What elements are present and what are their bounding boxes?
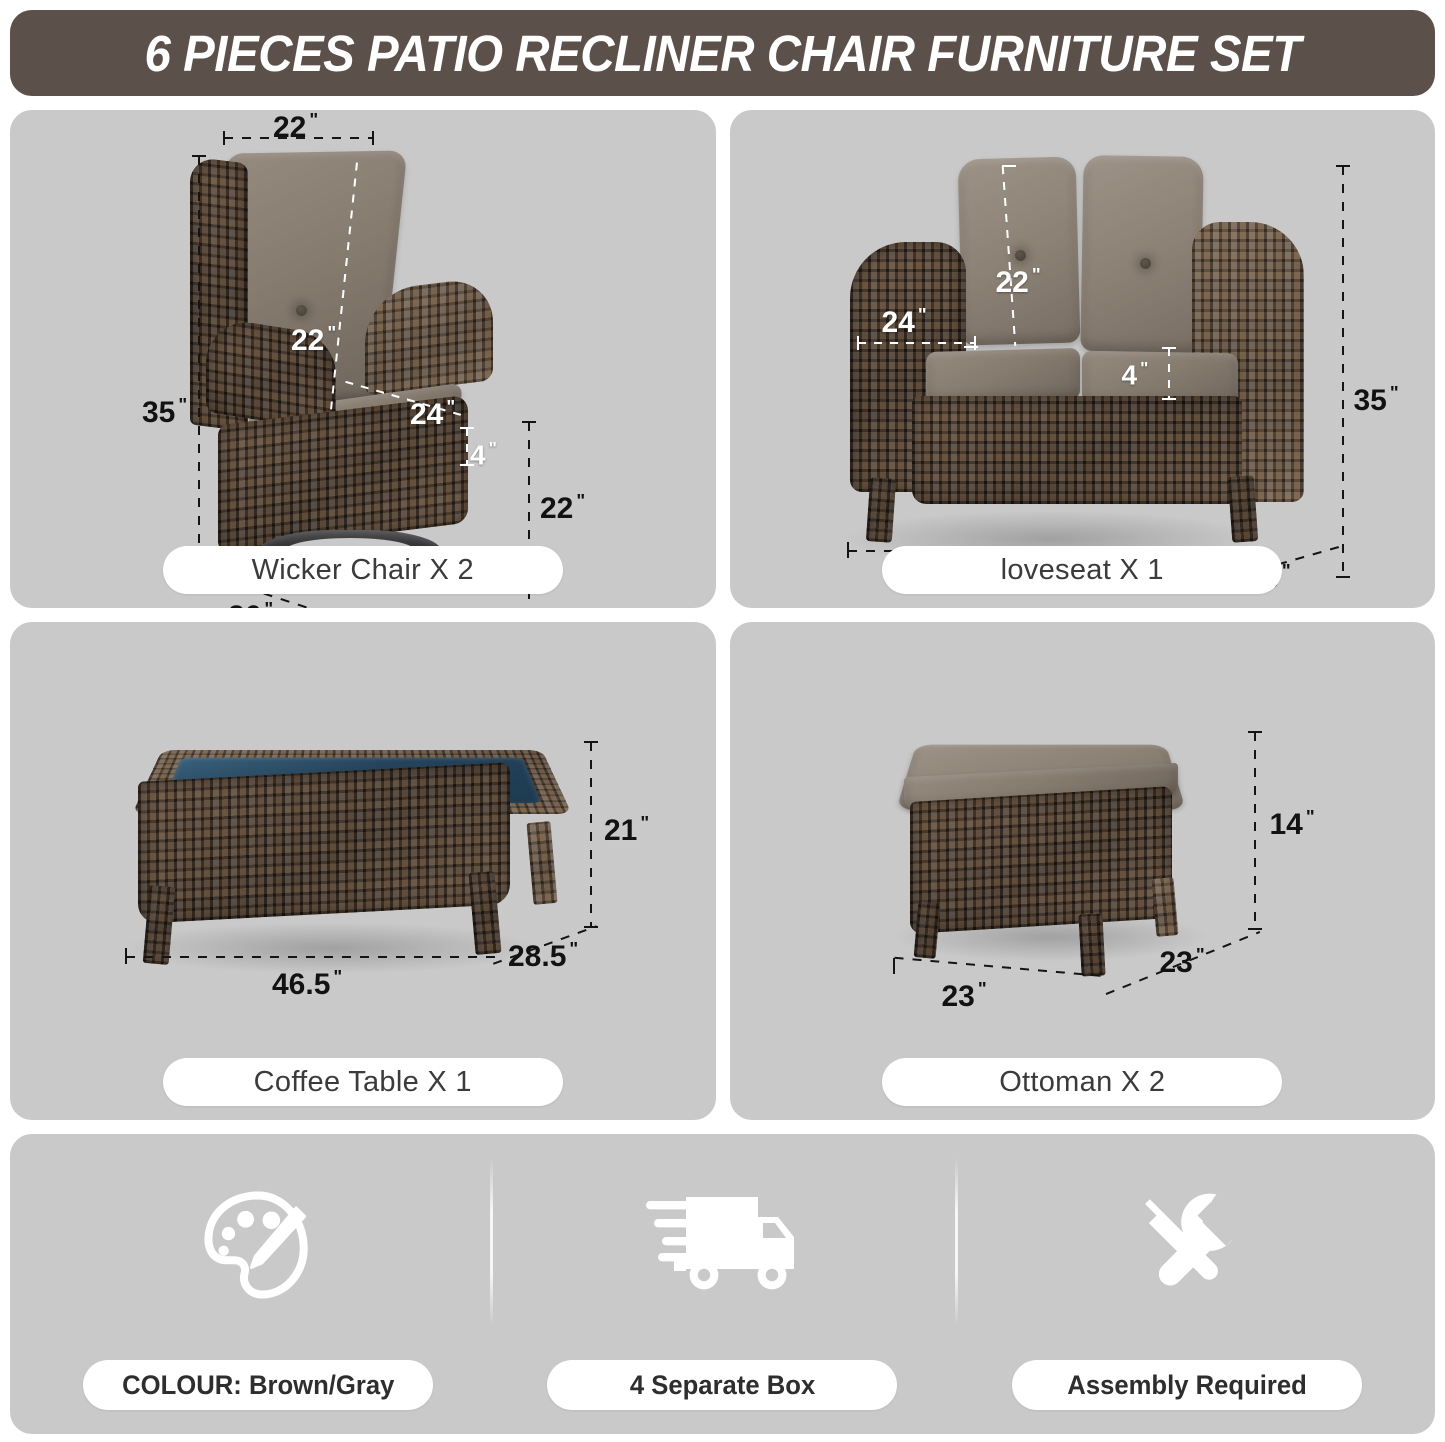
ottoman-leg-front	[1078, 913, 1105, 976]
delivery-truck-icon	[642, 1170, 802, 1320]
ottoman-illustration: 14" 23" 23"	[730, 622, 1436, 1120]
dim-table-depth: 28.5"	[508, 940, 578, 972]
loveseat-illustration: 22" 24" 4" 35" 53"	[730, 110, 1436, 608]
ottoman-leg-left	[913, 901, 940, 959]
product-label-loveseat: loveseat X 1	[1001, 554, 1164, 587]
chair-cushion-tuft	[296, 305, 307, 316]
dim-chair-overall-height: 35"	[142, 396, 187, 428]
product-panel-ottoman: 14" 23" 23" Ottoman X 2	[730, 622, 1436, 1120]
feature-label-assembly: Assembly Required	[1067, 1370, 1306, 1401]
product-label-ottoman: Ottoman X 2	[999, 1066, 1165, 1099]
loveseat-tuft-left	[1015, 250, 1026, 261]
coffee-table-illustration: 21" 46.5" 28.5"	[10, 622, 716, 1120]
dim-chair-width: 30"	[440, 606, 485, 608]
tick-cushion-top	[460, 427, 474, 429]
product-grid: 22" 35" 22" 24" 4"	[10, 110, 1435, 1120]
product-label-pill-wicker-chair: Wicker Chair X 2	[163, 546, 563, 594]
tick-ot-fp-left	[893, 958, 895, 974]
tick-lv-cushion-top	[1162, 347, 1176, 349]
palette-icon	[194, 1170, 322, 1320]
loveseat-base	[912, 396, 1242, 504]
tick-seat-top	[522, 421, 536, 423]
tick-lv-h-bottom	[1336, 576, 1350, 578]
dim-ottoman-depth: 23"	[1160, 946, 1205, 978]
guide-overall-height	[198, 156, 200, 572]
dim-loveseat-seat-depth: 24"	[882, 306, 927, 338]
tick-top-left	[223, 131, 225, 145]
feature-label-boxes: 4 Separate Box	[630, 1370, 815, 1401]
product-label-wicker-chair: Wicker Chair X 2	[252, 554, 474, 587]
feature-assembly: Assembly Required	[955, 1144, 1419, 1416]
product-panel-loveseat: 22" 24" 4" 35" 53"	[730, 110, 1436, 608]
dim-loveseat-back-height: 22"	[996, 266, 1041, 298]
tick-top-right	[372, 131, 374, 145]
guide-loveseat-height	[1342, 166, 1344, 578]
product-label-coffee-table: Coffee Table X 1	[254, 1066, 472, 1099]
dim-chair-seat-depth: 24"	[410, 398, 455, 430]
dim-loveseat-height: 35"	[1354, 384, 1399, 416]
dim-chair-back-height: 22"	[291, 324, 336, 356]
guide-table-footprint-width	[126, 956, 502, 958]
feature-label-colour: COLOUR: Brown/Gray	[122, 1370, 394, 1401]
feature-bar: COLOUR: Brown/Gray	[10, 1134, 1435, 1434]
dim-ottoman-width: 23"	[942, 980, 987, 1012]
tools-icon	[1124, 1170, 1250, 1320]
ottoman-body	[910, 786, 1172, 934]
product-label-pill-ottoman: Ottoman X 2	[882, 1058, 1282, 1106]
dim-chair-seat-height: 22"	[540, 492, 585, 524]
dim-chair-depth: 26"	[228, 600, 273, 608]
feature-pill-boxes: 4 Separate Box	[547, 1360, 897, 1410]
guide-loveseat-cushion-thickness	[1168, 348, 1170, 400]
tick-tb-h-top	[584, 741, 598, 743]
feature-pill-assembly: Assembly Required	[1012, 1360, 1362, 1410]
dim-chair-cushion-thickness: 4"	[470, 440, 497, 469]
tick-tb-fp-left	[125, 948, 127, 964]
ottoman-leg-right	[1151, 877, 1178, 937]
page-title: 6 PIECES PATIO RECLINER CHAIR FURNITURE …	[144, 24, 1300, 83]
tick-lv-depth-right	[974, 336, 976, 350]
loveseat-leg-left	[865, 477, 895, 543]
dim-chair-top-width: 22"	[273, 111, 318, 143]
guide-loveseat-seat-depth	[858, 342, 976, 344]
tick-lv-depth-left	[857, 336, 859, 350]
table-leg-back-right	[526, 821, 557, 905]
feature-pill-colour: COLOUR: Brown/Gray	[83, 1360, 433, 1410]
feature-boxes: 4 Separate Box	[490, 1144, 954, 1416]
product-panel-wicker-chair: 22" 35" 22" 24" 4"	[10, 110, 716, 608]
dim-ottoman-height: 14"	[1270, 808, 1315, 840]
loveseat-back-cushion-right	[1080, 155, 1203, 353]
guide-table-height	[590, 742, 592, 928]
tick-ot-h-top	[1248, 731, 1262, 733]
tick-lv-cushion-bottom	[1162, 398, 1176, 400]
dim-table-height: 21"	[604, 814, 649, 846]
product-label-pill-coffee-table: Coffee Table X 1	[163, 1058, 563, 1106]
tick-height-top	[192, 155, 206, 157]
wicker-chair-illustration: 22" 35" 22" 24" 4"	[10, 110, 716, 608]
tick-lv-back-top	[1002, 165, 1016, 167]
product-panel-coffee-table: 21" 46.5" 28.5" Coffee Table X 1	[10, 622, 716, 1120]
infographic-page: 6 PIECES PATIO RECLINER CHAIR FURNITURE …	[0, 0, 1445, 1442]
guide-ottoman-height	[1254, 732, 1256, 930]
header-banner: 6 PIECES PATIO RECLINER CHAIR FURNITURE …	[10, 10, 1435, 96]
dim-table-width: 46.5"	[272, 968, 342, 1000]
product-label-pill-loveseat: loveseat X 1	[882, 546, 1282, 594]
guide-cushion-thickness	[466, 428, 468, 466]
feature-colour: COLOUR: Brown/Gray	[26, 1144, 490, 1416]
table-body	[138, 762, 510, 923]
loveseat-leg-right	[1227, 475, 1258, 543]
tick-lv-fp-left	[847, 542, 849, 558]
loveseat-tuft-right	[1140, 258, 1151, 269]
dim-loveseat-cushion-thickness: 4"	[1122, 360, 1149, 389]
tick-lv-h-top	[1336, 165, 1350, 167]
